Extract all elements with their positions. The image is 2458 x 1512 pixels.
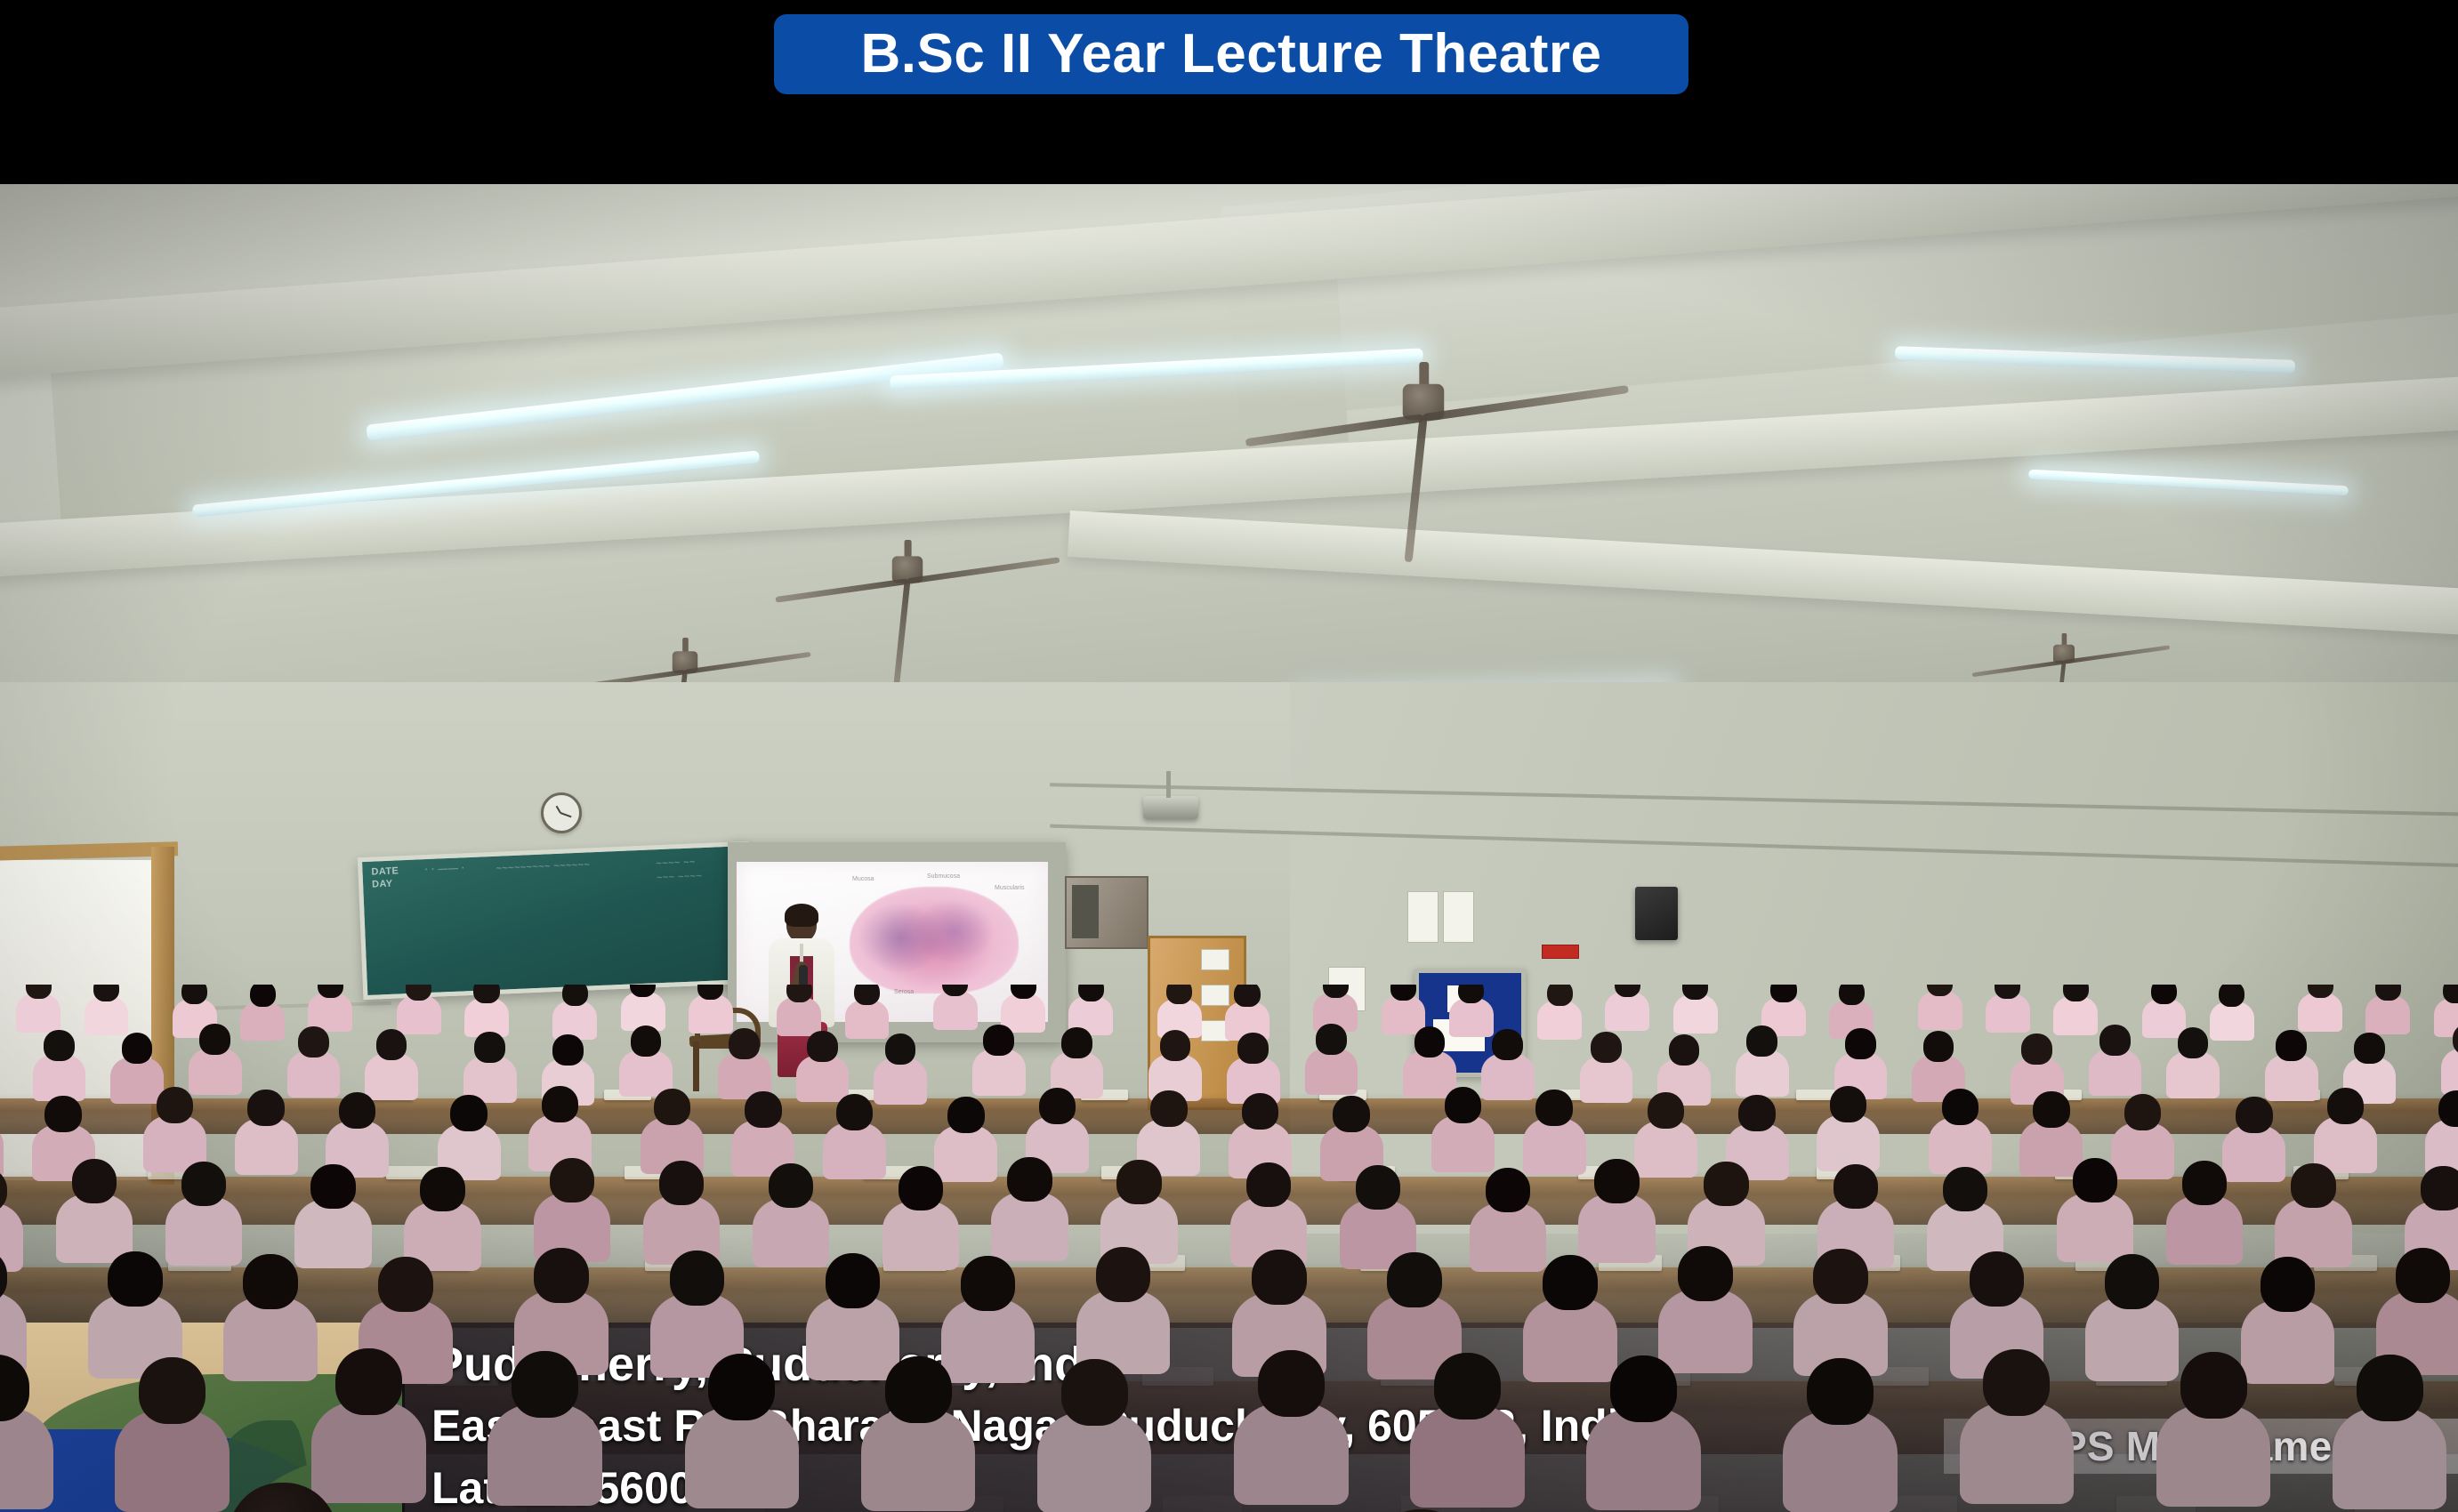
student-head	[2124, 1094, 2161, 1130]
student-torso	[972, 1049, 1026, 1096]
student	[861, 1356, 976, 1512]
chalkboard-scribble: ~~~~ ~~	[656, 857, 696, 870]
student-head	[708, 1354, 775, 1420]
student	[235, 1090, 298, 1183]
wall-clock-icon	[541, 792, 582, 833]
page-title: B.Sc II Year Lecture Theatre	[860, 27, 1601, 82]
student-torso	[991, 1192, 1068, 1260]
student-head	[2063, 985, 2089, 1001]
foreground-student-head	[228, 1483, 338, 1512]
student-torso	[1586, 1408, 1701, 1510]
student-head	[1492, 1029, 1523, 1060]
student	[972, 1025, 1026, 1103]
student-head	[339, 1092, 375, 1129]
student	[1673, 985, 1718, 1040]
student-head	[310, 1164, 355, 1209]
student	[223, 1254, 318, 1393]
student-head	[1007, 1157, 1052, 1202]
student	[823, 1094, 886, 1187]
student-head	[1970, 1251, 2025, 1307]
student-head	[2261, 1257, 2316, 1312]
student-head	[550, 1158, 594, 1202]
student	[1234, 1350, 1349, 1512]
student-torso	[235, 1118, 298, 1175]
student-torso	[33, 1054, 86, 1101]
student-head	[1547, 985, 1573, 1006]
student-head	[1813, 1249, 1868, 1304]
student-head	[1061, 1359, 1128, 1426]
student-head	[1316, 1024, 1347, 1055]
student-head	[2438, 1090, 2458, 1127]
student-torso	[1410, 1405, 1525, 1508]
student	[1431, 1087, 1495, 1180]
student-head	[199, 1024, 230, 1055]
student	[1580, 1032, 1633, 1110]
student	[488, 1351, 602, 1512]
student-head	[2105, 1254, 2160, 1309]
student-head	[1943, 1167, 1987, 1211]
student-head	[2151, 985, 2177, 1004]
student-head	[1770, 985, 1796, 1002]
student-torso	[1960, 1402, 2075, 1504]
student-torso	[685, 1406, 800, 1508]
wall-cabinet	[1065, 876, 1148, 949]
student-head	[139, 1357, 206, 1424]
student-torso	[2298, 993, 2342, 1033]
student-torso	[2089, 1049, 2142, 1096]
classroom-photo: DATE DAY · · —— · ~~~~~~~~~ ~~~~~~ ~~~~ …	[0, 184, 2458, 1512]
student-head	[1610, 1355, 1677, 1422]
student	[1960, 1349, 2075, 1512]
student-head	[44, 1096, 81, 1132]
wall-poster	[1407, 891, 1439, 943]
student-head	[654, 1089, 690, 1125]
student	[933, 985, 978, 1036]
student	[991, 1157, 1068, 1271]
student-head	[2276, 1030, 2307, 1061]
student-head	[1333, 1096, 1369, 1132]
student-head	[1434, 1353, 1501, 1420]
student-torso	[1783, 1411, 1898, 1512]
student	[2166, 1027, 2220, 1106]
student-head	[1160, 1030, 1191, 1061]
student-head	[1591, 1032, 1622, 1063]
student-head	[1983, 1349, 2050, 1416]
student-torso	[1673, 994, 1718, 1034]
student-head	[2073, 1158, 2117, 1202]
student-head	[836, 1094, 873, 1130]
student-torso	[1736, 1050, 1789, 1097]
student-head	[807, 1031, 838, 1062]
student-torso	[85, 996, 129, 1036]
wall-poster	[1443, 891, 1474, 943]
student	[1783, 1358, 1898, 1512]
student-head	[2033, 1091, 2069, 1128]
student-head	[1543, 1255, 1598, 1310]
student-head	[1116, 1160, 1161, 1204]
student-torso	[1580, 1056, 1633, 1103]
student	[1986, 985, 2030, 1039]
student-head	[181, 1162, 226, 1206]
student-torso	[0, 1407, 53, 1509]
student-torso	[1305, 1048, 1358, 1095]
student-head	[1746, 1025, 1777, 1057]
title-bar: B.Sc II Year Lecture Theatre	[0, 0, 2458, 184]
student-head	[1845, 1028, 1876, 1059]
slide-label-mucosa: Mucosa	[852, 876, 874, 882]
student-head	[1839, 985, 1865, 1005]
student	[1586, 1355, 1701, 1512]
chalkboard-scribble: ~~~~~~~~~ ~~~~~~	[496, 859, 590, 874]
student	[1305, 1024, 1358, 1102]
student-torso	[1037, 1411, 1152, 1512]
student-head	[1061, 1027, 1092, 1058]
student-head	[1738, 1095, 1775, 1131]
student-head	[552, 1034, 584, 1066]
student-torso	[2156, 1404, 2271, 1507]
student-head	[1648, 1092, 1684, 1129]
student-head	[1039, 1088, 1076, 1124]
student-head	[854, 985, 880, 1005]
student-head	[2354, 1033, 2385, 1064]
student	[2156, 1352, 2271, 1512]
student-head	[1486, 1168, 1530, 1212]
student-torso	[2057, 1193, 2133, 1261]
wall-poster	[1201, 949, 1229, 970]
student	[240, 985, 285, 1047]
student-torso	[2166, 1051, 2220, 1098]
student	[1537, 985, 1582, 1046]
student-head	[2291, 1163, 2335, 1208]
student-head	[122, 1033, 153, 1064]
student-head	[562, 985, 588, 1006]
student-torso	[1537, 1001, 1582, 1041]
chalkboard-scribble: · · —— ·	[424, 863, 465, 876]
student-head	[1678, 1246, 1733, 1301]
chalkboard-day-label: DAY	[372, 879, 393, 891]
student-head	[1252, 1250, 1307, 1305]
student-head	[2219, 985, 2244, 1007]
student-torso	[823, 1122, 886, 1179]
student	[1605, 985, 1649, 1037]
student-head	[2236, 1097, 2272, 1133]
student-head	[1833, 1164, 1878, 1209]
wall-speaker	[1635, 887, 1678, 940]
student	[1736, 1025, 1789, 1104]
student-torso	[1929, 1117, 1992, 1174]
student-head	[2180, 1352, 2247, 1419]
student-head	[1096, 1247, 1151, 1302]
student-head	[1942, 1089, 1978, 1125]
student-torso	[223, 1297, 318, 1381]
screenshot-root: B.Sc II Year Lecture Theatre	[0, 0, 2458, 1512]
student-head	[961, 1256, 1016, 1311]
student-torso	[1234, 1403, 1349, 1505]
student-head	[1242, 1093, 1278, 1130]
ceiling-projector	[1143, 796, 1198, 819]
student-torso	[488, 1403, 602, 1506]
student-head	[1166, 985, 1192, 1004]
chalkboard: DATE DAY · · —— · ~~~~~~~~~ ~~~~~~ ~~~~ …	[358, 841, 754, 1000]
student-head	[474, 1032, 505, 1063]
student-torso	[1817, 1114, 1880, 1171]
student-head	[2021, 1033, 2052, 1065]
exit-sign	[1542, 945, 1579, 959]
student-head	[542, 1086, 578, 1122]
student-head	[1535, 1090, 1572, 1126]
student-head	[1356, 1165, 1400, 1210]
student-head	[2178, 1027, 2209, 1058]
student	[685, 1354, 800, 1512]
lecturer-hair	[785, 904, 818, 927]
student-torso	[240, 1001, 285, 1042]
student-head	[826, 1253, 881, 1308]
student-head	[631, 1025, 662, 1057]
histology-slide-image	[850, 887, 1019, 993]
student-torso	[2333, 1407, 2447, 1509]
student	[1410, 1353, 1525, 1512]
student-head	[298, 1026, 329, 1058]
student-torso	[933, 991, 978, 1031]
student-head	[534, 1248, 589, 1303]
student-head	[157, 1087, 193, 1123]
student-head	[769, 1163, 813, 1208]
student-head	[473, 985, 499, 1003]
student-torso	[1605, 992, 1649, 1032]
student-head	[376, 1029, 407, 1060]
student-head	[786, 985, 812, 1002]
student-head	[2182, 1161, 2227, 1205]
student-head	[670, 1251, 725, 1306]
student-head	[2327, 1088, 2364, 1124]
student-head	[247, 1090, 284, 1126]
student-head	[108, 1251, 163, 1307]
student-head	[659, 1161, 704, 1205]
student-head	[335, 1348, 402, 1415]
student-torso	[1578, 1194, 1655, 1262]
student-torso	[861, 1409, 976, 1511]
student-head	[1234, 985, 1260, 1007]
student-head	[450, 1095, 487, 1131]
slide-label-muscularis: Muscularis	[995, 885, 1024, 891]
projector-mount	[1166, 771, 1171, 798]
student-head	[2421, 1166, 2458, 1210]
student-torso	[2441, 1048, 2458, 1095]
student-head	[1669, 1034, 1700, 1066]
student-head	[1830, 1086, 1866, 1122]
student-head	[899, 1166, 943, 1210]
student-head	[745, 1091, 781, 1128]
student-head	[1150, 1090, 1187, 1127]
student	[2089, 1025, 2142, 1103]
student-head	[1704, 1162, 1748, 1206]
student-head	[44, 1030, 75, 1061]
student-head	[885, 1356, 952, 1423]
student-head	[378, 1257, 433, 1312]
student-head	[1594, 1159, 1639, 1203]
student-torso	[1523, 1118, 1586, 1175]
student-torso	[2365, 995, 2410, 1035]
cabinet-pane	[1072, 885, 1099, 938]
student-head	[250, 985, 276, 1007]
student-head	[1237, 1033, 1269, 1064]
student	[2333, 1355, 2447, 1512]
student-torso	[16, 993, 60, 1033]
student-head	[420, 1167, 464, 1211]
student-head	[1258, 1350, 1325, 1417]
student-torso	[1431, 1115, 1495, 1172]
chalkboard-scribble: ~~~ ~~~~	[657, 871, 703, 884]
student-head	[2099, 1025, 2131, 1056]
student-head	[512, 1351, 578, 1418]
student-head	[181, 985, 207, 1004]
student	[0, 1355, 53, 1512]
student	[1037, 1359, 1152, 1512]
student-head	[1387, 1252, 1442, 1307]
student-head	[885, 1033, 916, 1065]
student-head	[729, 1028, 760, 1059]
foreground-student	[160, 1483, 400, 1512]
student-head	[1445, 1087, 1481, 1123]
student-torso	[1918, 991, 1962, 1031]
chalkboard-date-label: DATE	[371, 865, 399, 878]
student-torso	[1986, 993, 2030, 1033]
student-head	[947, 1097, 984, 1133]
student-head	[983, 1025, 1014, 1056]
student-head	[2396, 1248, 2451, 1303]
student-head	[243, 1254, 298, 1309]
student	[1918, 985, 1962, 1036]
student-head	[1414, 1026, 1446, 1058]
student-head	[1807, 1358, 1874, 1425]
student-head	[72, 1159, 117, 1203]
student-head	[1246, 1162, 1291, 1207]
student-head	[1923, 1031, 1954, 1062]
student-torso	[2265, 1054, 2318, 1101]
student-head	[2357, 1355, 2423, 1421]
slide-label-submucosa: Submucosa	[927, 873, 960, 880]
page-title-chip: B.Sc II Year Lecture Theatre	[774, 14, 1688, 94]
